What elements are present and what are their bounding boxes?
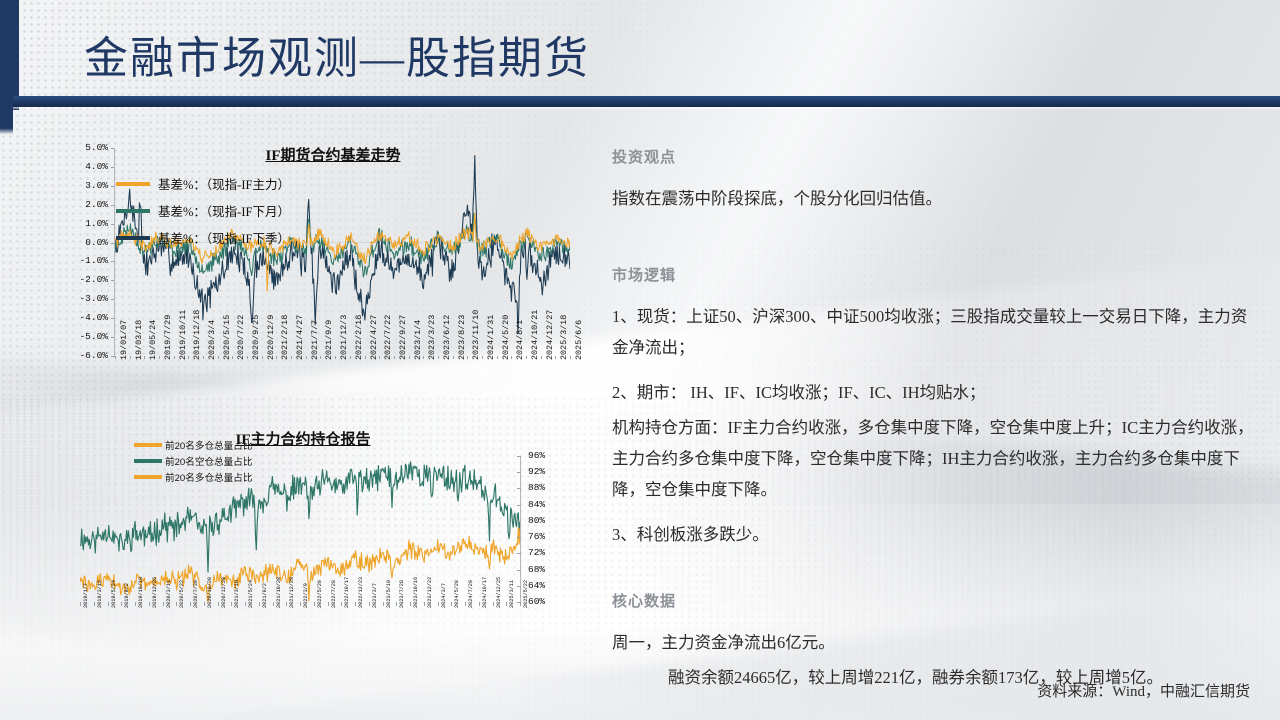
x-tick-mark [174,356,175,359]
x-tick-mark [259,602,260,606]
source-note: 资料来源：Wind，中融汇信期货 [1037,680,1250,701]
y-tick-label: 76% [528,531,568,542]
header-accent-bar-highlight [13,107,1280,110]
holdings-chart: IF主力合约持仓报告 96%92%88%84%80%76%72%68%64%60… [58,428,568,698]
x-tick-mark [286,602,287,606]
legend-swatch-icon [134,459,162,463]
x-tick-label: 2023/12/22 [427,577,433,608]
x-tick-mark [526,356,527,359]
holdings-legend: 前20名多仓总量占比 前20名空仓总量占比 前20名多仓总量占比 [134,438,252,486]
x-tick-label: 2019/12/18 [192,310,202,360]
legend-item: 基差%：（现指-IF下月） [116,201,290,220]
y-tick-label: 92% [528,466,568,477]
core-data-heading: 核心数据 [612,590,1262,611]
x-tick-mark [511,356,512,359]
x-tick-mark [149,602,150,606]
x-tick-label: 2019/1/7 [83,583,89,608]
x-tick-mark [394,356,395,359]
x-tick-mark [159,356,160,359]
x-tick-mark [232,356,233,359]
x-tick-mark [424,602,425,606]
x-tick-label: 2020/5/15 [222,315,232,360]
legend-label: 基差%：（现指-IF下季） [158,228,290,247]
x-tick-label: 2021/12/28 [289,577,295,608]
y-tick-label: -4.0% [58,312,108,323]
x-tick-label: 2024/5/20 [454,580,460,608]
x-tick-mark [218,602,219,606]
x-tick-label: 2025/5/22 [523,580,529,608]
x-tick-mark [115,356,116,359]
y-tick-label: 5.0% [58,142,108,153]
header-accent-bar [13,96,1280,107]
x-tick-mark [328,602,329,606]
x-tick-label: 2021/12/3 [339,315,349,360]
y-tick-label: 64% [528,580,568,591]
legend-swatch-icon [116,236,150,240]
x-tick-label: 2024/10/17 [482,577,488,608]
x-tick-label: 19/05/24 [148,320,158,360]
x-tick-label: 2020/9/25 [251,315,261,360]
y-tick-mark [517,570,521,571]
x-tick-mark [379,356,380,359]
x-tick-mark [94,602,95,606]
y-tick-mark [517,537,521,538]
legend-label: 前20名空仓总量占比 [165,454,252,468]
x-tick-label: 19/01/07 [119,320,129,360]
core-data-item-1: 周一，主力资金净流出6亿元。 [612,627,1262,658]
spacer [612,228,1262,264]
x-tick-mark [306,356,307,359]
x-tick-mark [135,602,136,606]
x-tick-label: 2024/3/7 [441,583,447,608]
x-tick-label: 2019/12/26 [152,577,158,608]
y-tick-label: 1.0% [58,218,108,229]
y-tick-label: -6.0% [58,350,108,361]
x-tick-mark [314,602,315,606]
x-tick-mark [335,356,336,359]
x-tick-label: 2019/7/29 [163,315,173,360]
x-tick-label: 2022/12/23 [358,577,364,608]
x-tick-mark [218,356,219,359]
x-tick-mark [355,602,356,606]
charts-column: IF期货合约基差走势 5.0%4.0%3.0%2.0%1.0%0.0%-1.0%… [58,138,568,698]
x-tick-mark [396,602,397,606]
commentary-panel: 投资观点 指数在震荡中阶段探底，个股分化回归估值。 市场逻辑 1、现货：上证50… [612,146,1262,697]
x-tick-mark [410,602,411,606]
x-tick-mark [493,602,494,606]
x-tick-mark [108,602,109,606]
y-tick-label: 2.0% [58,199,108,210]
x-tick-label: 2021/5/24 [248,580,254,608]
legend-item: 前20名空仓总量占比 [134,454,252,468]
x-tick-label: 2022/10/17 [344,577,350,608]
x-tick-mark [350,356,351,359]
x-tick-label: 2022/5/20 [317,580,323,608]
x-tick-mark [276,356,277,359]
legend-label: 基差%：（现指-IF下月） [158,201,290,220]
x-tick-mark [570,356,571,359]
x-tick-mark [409,356,410,359]
x-tick-mark [453,356,454,359]
x-tick-label: 2021/3/10 [234,580,240,608]
x-tick-mark [247,356,248,359]
x-tick-label: 2023/7/28 [399,580,405,608]
x-tick-mark [365,356,366,359]
x-tick-mark [203,356,204,359]
x-tick-label: 2021/4/27 [295,315,305,360]
x-tick-label: 2021/10/20 [276,577,282,608]
x-tick-label: 2022/9/27 [398,315,408,360]
legend-item: 前20名多仓总量占比 [134,470,252,484]
y-tick-label: -5.0% [58,331,108,342]
x-tick-label: 2021/9/9 [324,320,334,360]
y-tick-mark [517,553,521,554]
x-tick-mark [520,602,521,606]
x-tick-label: 2021/7/7 [310,320,320,360]
x-tick-label: 2023/5/19 [386,580,392,608]
x-tick-label: 2019/10/11 [178,310,188,360]
y-tick-label: -3.0% [58,293,108,304]
x-tick-mark [291,356,292,359]
x-tick-mark [451,602,452,606]
x-tick-label: 2023/8/23 [457,315,467,360]
y-tick-label: 3.0% [58,180,108,191]
x-tick-mark [144,356,145,359]
x-tick-label: 2024/8/1 [515,320,525,360]
x-tick-mark [467,356,468,359]
legend-swatch-icon [116,182,150,186]
x-tick-mark [423,356,424,359]
x-tick-mark [479,602,480,606]
legend-label: 前20名多仓总量占比 [165,470,252,484]
x-tick-mark [245,602,246,606]
x-tick-label: 2024/12/27 [545,310,555,360]
y-tick-label: 84% [528,499,568,510]
x-tick-label: 2020/7/30 [193,580,199,608]
y-tick-mark [517,586,521,587]
market-logic-item-4: 3、科创板涨多跌少。 [612,519,1262,550]
x-tick-label: 2025/6/6 [574,320,584,360]
y-tick-mark [517,521,521,522]
y-tick-mark [517,488,521,489]
x-tick-mark [163,602,164,606]
x-tick-label: 2019/10/18 [138,577,144,608]
basis-legend: 基差%：（现指-IF主力） 基差%：（现指-IF下月） 基差%：（现指-IF下季… [116,174,290,255]
x-tick-mark [130,356,131,359]
y-tick-label: 72% [528,547,568,558]
x-tick-mark [369,602,370,606]
x-tick-mark [80,602,81,606]
x-tick-label: 2020/5/22 [179,580,185,608]
legend-item: 基差%：（现指-IF下季） [116,228,290,247]
legend-label: 基差%：（现指-IF主力） [158,174,290,193]
x-tick-label: 2023/1/4 [413,320,423,360]
y-tick-label: 80% [528,515,568,526]
x-tick-label: 2020/7/22 [236,315,246,360]
legend-label: 前20名多仓总量占比 [165,438,252,452]
market-logic-item-2: 2、期市： IH、IF、IC均收涨；IF、IC、IH均贴水； [612,377,1262,408]
basis-chart: IF期货合约基差走势 5.0%4.0%3.0%2.0%1.0%0.0%-1.0%… [58,138,568,428]
x-tick-label: 2023/3/23 [427,315,437,360]
x-tick-label: 2023/10/16 [413,577,419,608]
y-tick-mark [517,472,521,473]
x-tick-label: 2024/12/25 [496,577,502,608]
x-tick-label: 2023/11/10 [471,310,481,360]
x-tick-mark [438,356,439,359]
x-tick-mark [541,356,542,359]
x-tick-label: 2021/2/18 [280,315,290,360]
x-tick-mark [555,356,556,359]
x-tick-mark [497,356,498,359]
y-tick-label: -1.0% [58,255,108,266]
x-tick-label: 2024/5/20 [501,315,511,360]
legend-swatch-icon [116,209,150,213]
y-tick-label: 0.0% [58,237,108,248]
y-tick-label: 4.0% [58,161,108,172]
legend-swatch-icon [134,443,162,447]
x-tick-label: 2019/5/24 [111,580,117,608]
x-tick-label: 2025/3/11 [509,580,515,608]
x-tick-mark [204,602,205,606]
y-tick-mark [517,456,521,457]
x-tick-mark [190,602,191,606]
x-tick-mark [231,602,232,606]
spacer [612,564,1262,590]
x-tick-label: 2022/7/28 [331,580,337,608]
x-tick-mark [300,602,301,606]
y-tick-label: 68% [528,564,568,575]
x-tick-mark [176,602,177,606]
x-tick-label: 2024/10/21 [530,310,540,360]
left-accent-strip-lower [0,110,13,720]
x-tick-mark [506,602,507,606]
market-logic-item-3: 机构持仓方面：IF主力合约收涨，多仓集中度下降，空仓集中度上升；IC主力合约收涨… [612,412,1262,505]
x-tick-label: 2022/3/9 [303,583,309,608]
market-logic-heading: 市场逻辑 [612,264,1262,285]
x-tick-label: 2024/7/29 [468,580,474,608]
x-tick-mark [121,602,122,606]
x-tick-label: 2020/3/4 [207,320,217,360]
x-tick-label: 2025/3/18 [559,315,569,360]
x-tick-label: 2023/3/7 [372,583,378,608]
x-tick-mark [465,602,466,606]
x-tick-label: 2022/4/27 [369,315,379,360]
x-tick-mark [262,356,263,359]
y-tick-mark [517,505,521,506]
x-tick-label: 19/03/18 [134,320,144,360]
y-tick-label: 88% [528,482,568,493]
page-title: 金融市场观测—股指期货 [84,34,590,84]
x-tick-label: 2020/12/9 [266,315,276,360]
x-tick-label: 2020/12/28 [221,577,227,608]
investment-view-text: 指数在震荡中阶段探底，个股分化回归估值。 [612,183,1262,214]
x-tick-mark [482,356,483,359]
x-tick-label: 2021/8/2 [262,583,268,608]
x-tick-mark [438,602,439,606]
market-logic-item-1: 1、现货：上证50、沪深300、中证500均收涨；三股指成交量较上一交易日下降，… [612,301,1262,363]
x-tick-mark [188,356,189,359]
slide-header: 金融市场观测—股指期货 [0,0,1280,112]
x-tick-mark [273,602,274,606]
holdings-axis-line [520,456,521,602]
x-tick-label: 2022/2/18 [354,315,364,360]
y-tick-label: -2.0% [58,274,108,285]
x-tick-label: 2019/8/2 [124,583,130,608]
x-tick-mark [383,602,384,606]
x-tick-label: 2020/10/20 [207,577,213,608]
x-tick-label: 2023/6/12 [442,315,452,360]
y-tick-label: 60% [528,596,568,607]
investment-view-heading: 投资观点 [612,146,1262,167]
legend-item: 基差%：（现指-IF主力） [116,174,290,193]
x-tick-mark [341,602,342,606]
x-tick-label: 2022/7/22 [383,315,393,360]
legend-swatch-icon [134,475,162,479]
x-tick-label: 2019/3/15 [97,580,103,608]
x-tick-mark [320,356,321,359]
x-tick-label: 2020/3/11 [166,580,172,608]
x-tick-label: 2024/1/31 [486,315,496,360]
y-tick-label: 96% [528,450,568,461]
legend-item: 前20名多仓总量占比 [134,438,252,452]
